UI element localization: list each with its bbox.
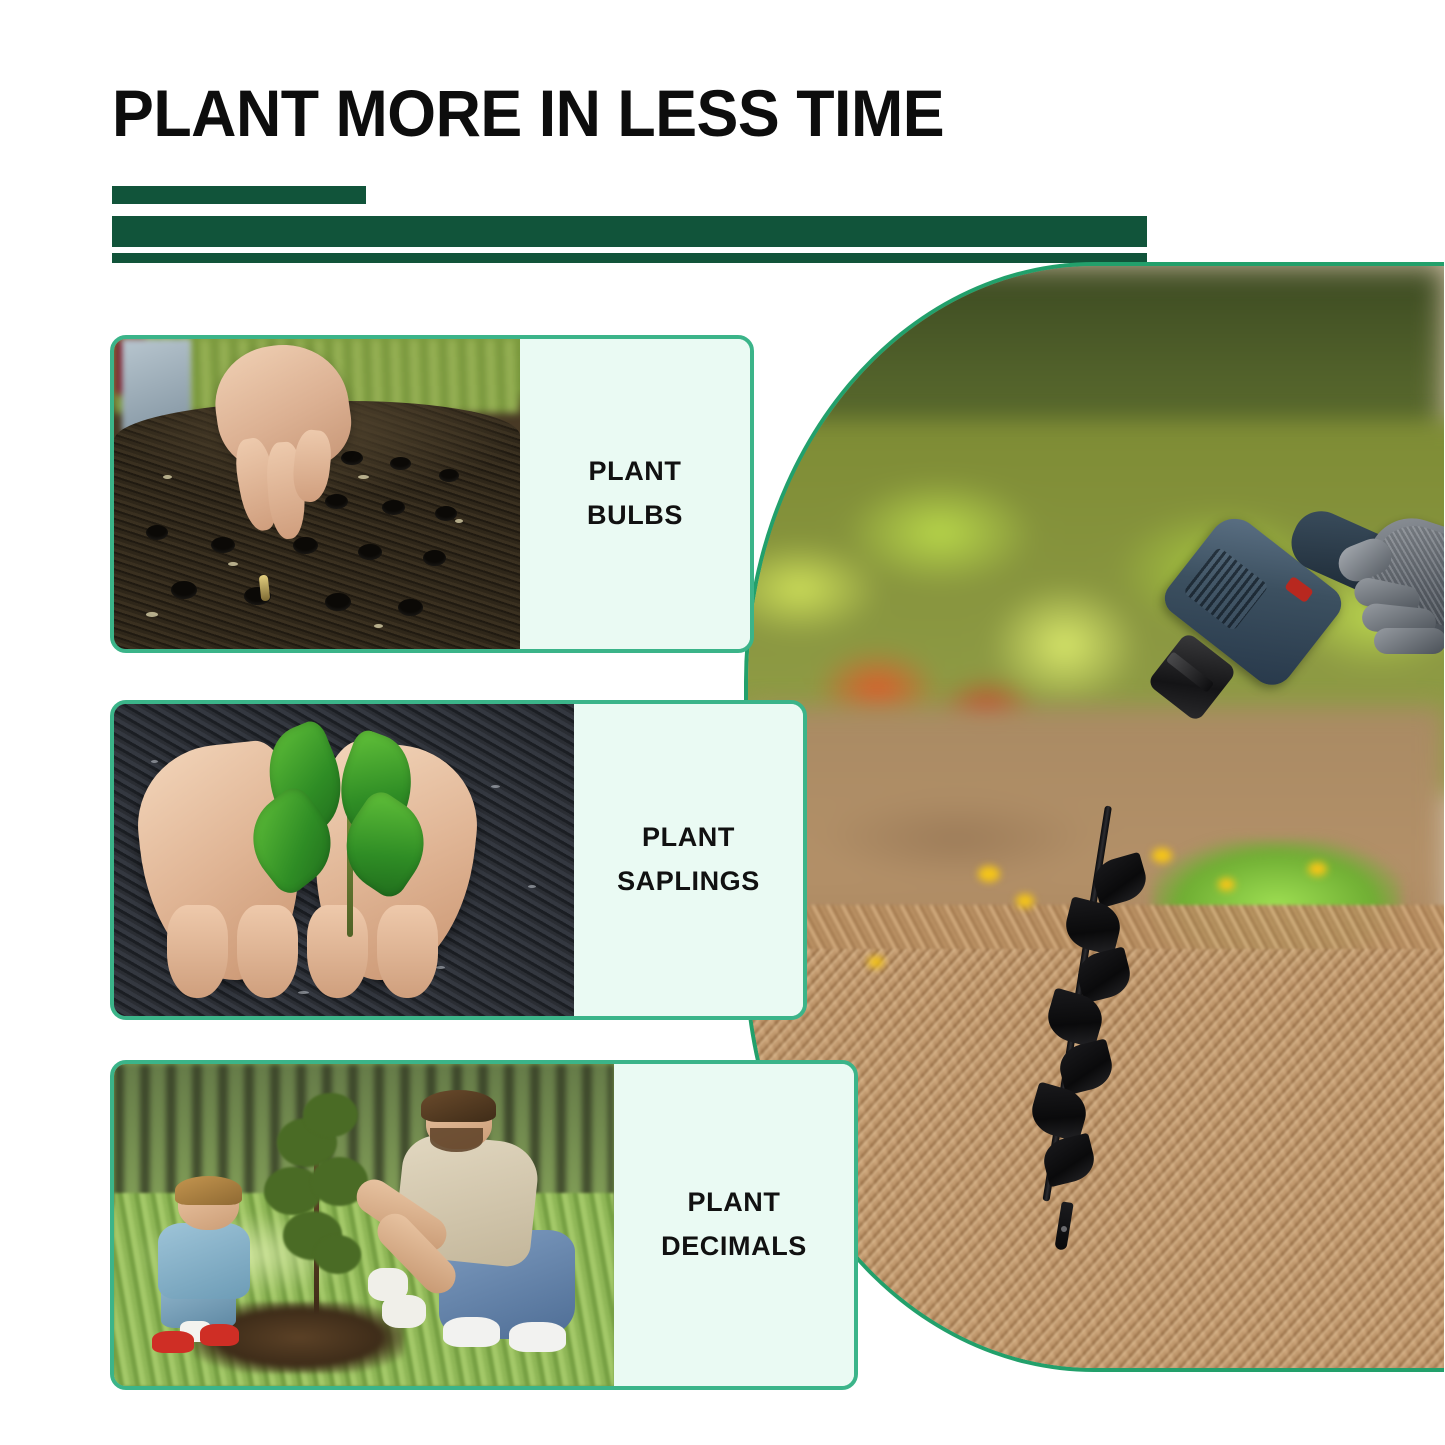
man-hair bbox=[421, 1090, 496, 1122]
flower-blur-2 bbox=[1016, 894, 1034, 908]
photo1-base bbox=[114, 339, 520, 649]
boy-hair bbox=[175, 1176, 242, 1205]
card-label-line2: DECIMALS bbox=[661, 1232, 807, 1262]
card-label-line2: SAPLINGS bbox=[617, 867, 760, 897]
feature-card-plant-decimals[interactable]: PLANT DECIMALS bbox=[110, 1060, 858, 1390]
flower-blur-4 bbox=[1218, 878, 1235, 891]
auger-tip-hole bbox=[1061, 1226, 1067, 1232]
boy-shirt bbox=[158, 1223, 250, 1299]
cordless-drill bbox=[1148, 516, 1408, 816]
man-shoe-2 bbox=[509, 1322, 566, 1352]
soil-sparkle bbox=[528, 885, 536, 888]
flower-blur-1 bbox=[978, 866, 1000, 882]
card-label-plant-decimals: PLANT DECIMALS bbox=[614, 1064, 854, 1386]
card-label-line2: BULBS bbox=[587, 501, 683, 531]
soil-hole bbox=[439, 469, 459, 482]
photo-hands-holding-sapling bbox=[114, 704, 574, 1016]
card-label-line1: PLANT bbox=[642, 823, 735, 853]
photo2-base bbox=[114, 704, 574, 1016]
soil-speck bbox=[455, 519, 463, 523]
flower-blur-5 bbox=[1308, 862, 1327, 876]
divider-bar-thick bbox=[112, 216, 1147, 247]
sapling-plant bbox=[247, 723, 459, 941]
card-label-line1: PLANT bbox=[589, 457, 682, 487]
boy-shoe-1 bbox=[152, 1331, 194, 1353]
boy-figure bbox=[144, 1180, 284, 1360]
soil-hole bbox=[171, 581, 197, 599]
feature-card-plant-bulbs[interactable]: PLANT BULBS bbox=[110, 335, 754, 653]
man-figure bbox=[364, 1090, 584, 1360]
man-glove-2 bbox=[382, 1295, 426, 1327]
work-glove bbox=[1344, 508, 1444, 668]
glove-finger-3 bbox=[1374, 628, 1444, 654]
card-label-line1: PLANT bbox=[688, 1188, 781, 1218]
soil-hole bbox=[423, 550, 446, 566]
photo-hand-planting-bulb bbox=[114, 339, 520, 649]
photo3-base bbox=[114, 1064, 614, 1386]
soil-hole bbox=[390, 457, 411, 470]
card-label-plant-bulbs: PLANT BULBS bbox=[520, 339, 750, 649]
page-title: PLANT MORE IN LESS TIME bbox=[112, 80, 1157, 146]
flower-blur-6 bbox=[868, 956, 884, 968]
man-beard bbox=[430, 1128, 483, 1152]
divider-bar-thin bbox=[112, 253, 1147, 263]
divider-bar-short bbox=[112, 186, 366, 204]
tree-foliage-6 bbox=[314, 1235, 361, 1274]
photo-man-and-boy-planting-tree bbox=[114, 1064, 614, 1386]
card-label-plant-saplings: PLANT SAPLINGS bbox=[574, 704, 803, 1016]
soil-sparkle bbox=[491, 785, 500, 788]
soil-speck bbox=[146, 612, 158, 617]
flower-blur-3 bbox=[1152, 848, 1172, 863]
tree-foliage-2 bbox=[303, 1093, 358, 1137]
feature-card-plant-saplings[interactable]: PLANT SAPLINGS bbox=[110, 700, 807, 1020]
boy-shoe-2 bbox=[200, 1324, 239, 1346]
man-shoe-1 bbox=[443, 1317, 500, 1347]
finger bbox=[167, 905, 228, 998]
product-infographic: PLANT MORE IN LESS TIME bbox=[0, 0, 1445, 1445]
hand-holding-bulb bbox=[203, 345, 365, 556]
